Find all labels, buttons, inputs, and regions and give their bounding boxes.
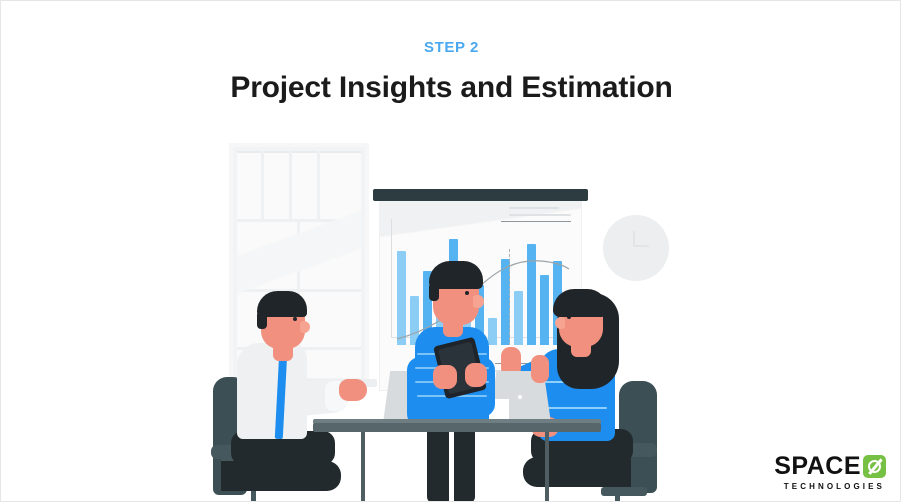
presenter-nose xyxy=(473,295,484,308)
presenter-hand-left xyxy=(433,365,457,389)
slide-canvas: STEP 2 Project Insights and Estimation xyxy=(0,0,901,502)
space-o-mark-icon xyxy=(863,455,886,478)
logo-main-row: SPACE xyxy=(774,454,886,479)
clock-minute-hand xyxy=(635,245,649,247)
wall-clock-icon xyxy=(603,215,669,281)
brand-logo: SPACE TECHNOLOGIES xyxy=(774,454,886,491)
presenter-hand-right xyxy=(465,363,487,387)
seated-woman-nose xyxy=(555,317,565,329)
presenter-sideburn xyxy=(429,283,439,301)
pointing-hand-icon xyxy=(531,355,549,383)
seated-man-hand xyxy=(339,379,367,401)
seated-woman-hair-front xyxy=(553,289,607,317)
projector-screen-roller xyxy=(373,189,588,201)
seated-woman-eye xyxy=(567,315,571,319)
seated-man-sideburn xyxy=(257,311,267,329)
step-label: STEP 2 xyxy=(1,39,901,56)
logo-wordmark: SPACE xyxy=(774,454,861,479)
logo-subtitle: TECHNOLOGIES xyxy=(774,482,886,491)
seated-man-legs-lower xyxy=(221,461,341,491)
page-title: Project Insights and Estimation xyxy=(1,71,901,105)
seated-woman-sweater-stripe xyxy=(545,407,607,409)
laptop-right-logo xyxy=(518,395,522,399)
table-leg-left xyxy=(361,432,365,502)
office-chair-right-base xyxy=(601,487,647,496)
conference-table xyxy=(313,423,601,432)
presenter-leg-gap xyxy=(449,431,454,502)
illustration-business-team xyxy=(201,131,701,502)
presenter-eye xyxy=(465,291,469,295)
seated-man-eye xyxy=(293,317,297,321)
table-leg-right xyxy=(545,432,549,502)
